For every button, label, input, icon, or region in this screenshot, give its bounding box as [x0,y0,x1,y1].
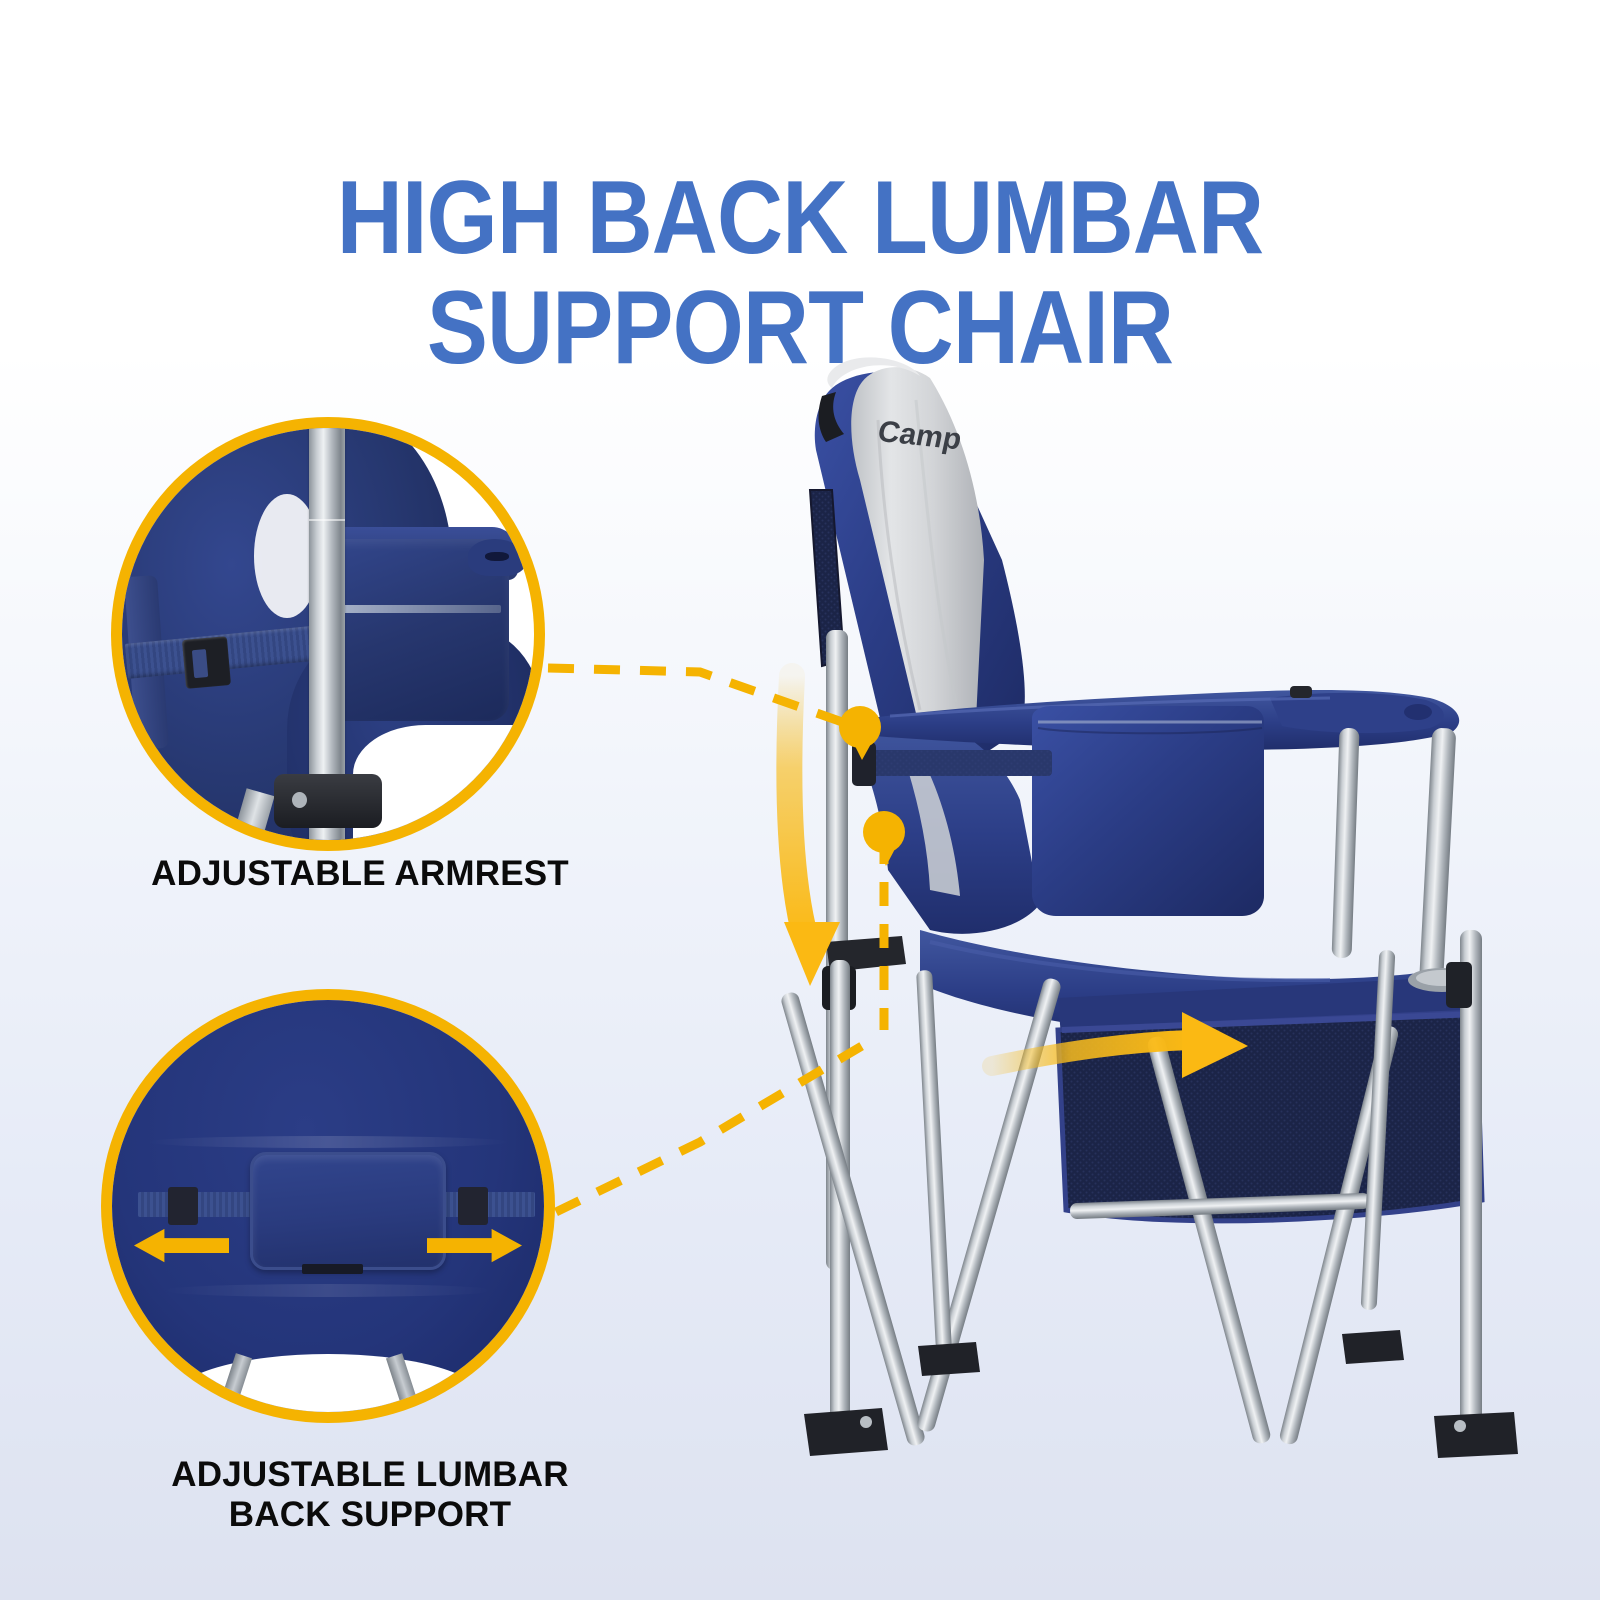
foot-rear-left [918,1342,980,1376]
lumbar-detail-label-tab [302,1264,362,1274]
callout-caption-lumbar: ADJUSTABLE LUMBAR BACK SUPPORT [40,1455,700,1534]
armrest-detail-cup-holder-bracket [274,774,381,828]
armrest-detail-pole-seam [309,519,344,521]
callout-caption-lumbar-line1: ADJUSTABLE LUMBAR [40,1455,700,1495]
foot-front-left [804,1408,888,1456]
foot-front-right-rivet [1454,1420,1466,1432]
lumbar-pad [1032,706,1264,916]
right-leg-collar [1446,962,1472,1008]
side-storage-pocket-mesh [1058,1012,1482,1221]
arm-support-tube-front [1419,728,1457,991]
lumbar-detail-buckle-right [458,1187,488,1224]
arm-support-tube-rear [1332,728,1360,959]
lumbar-strap-texture [866,750,1052,776]
callout-circle-lumbar [112,1000,544,1412]
callout-caption-lumbar-line2: BACK SUPPORT [40,1495,700,1535]
chair-illustration: Camp [770,330,1600,1530]
foot-front-right [1434,1412,1518,1458]
infographic-canvas: HIGH BACK LUMBAR SUPPORT CHAIR [0,0,1600,1600]
product-photo-camping-chair: Camp [770,330,1600,1530]
lumbar-expand-left-arrow [134,1227,229,1264]
armrest-detail-grommet [485,552,510,562]
lumbar-strap-buckle [852,742,876,786]
armrest-detail-buckle [182,636,231,689]
callout-caption-armrest: ADJUSTABLE ARMREST [40,854,680,894]
lumbar-detail-pad [250,1152,446,1269]
rear-left-leg [916,970,952,1350]
armrest-detail-zip [336,605,501,613]
armrest-clip [1290,686,1312,698]
lumbar-detail-lower-seam [164,1284,492,1296]
armrest-end-crease [1404,704,1432,720]
lumbar-detail-buckle-left [168,1187,198,1224]
lumbar-expand-right-arrow [427,1227,522,1264]
callout-circle-armrest [122,428,534,840]
foot-front-left-rivet [860,1416,872,1428]
cross-brace-1 [780,991,927,1448]
foot-rear-right [1342,1330,1404,1364]
lumbar-detail-strap-left [138,1192,259,1218]
page-title-line1: HIGH BACK LUMBAR [337,160,1263,276]
